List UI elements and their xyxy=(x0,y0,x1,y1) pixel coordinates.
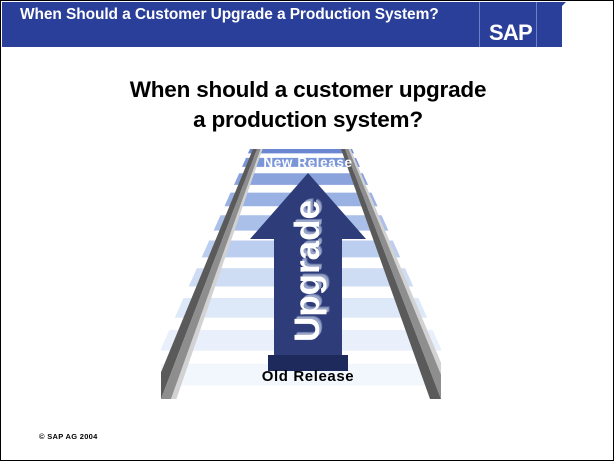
page-title: When should a customer upgrade a product… xyxy=(1,75,614,135)
slide-header: When Should a Customer Upgrade a Product… xyxy=(2,2,613,47)
footer-copyright: © SAP AG 2004 xyxy=(39,432,98,441)
upgrade-arrow: Upgrade xyxy=(246,171,370,371)
page-title-line-2: a production system? xyxy=(1,105,614,135)
upgrade-arrow-label: Upgrade xyxy=(288,200,328,342)
old-release-label: Old Release xyxy=(1,368,614,385)
header-divider-line-2 xyxy=(536,2,537,47)
new-release-label: New Release xyxy=(1,155,614,170)
header-title: When Should a Customer Upgrade a Product… xyxy=(20,5,470,24)
header-divider-line-1 xyxy=(479,2,480,47)
page-title-line-1: When should a customer upgrade xyxy=(1,75,614,105)
sap-logo: SAP xyxy=(489,20,532,46)
slide-canvas: When Should a Customer Upgrade a Product… xyxy=(0,0,614,461)
